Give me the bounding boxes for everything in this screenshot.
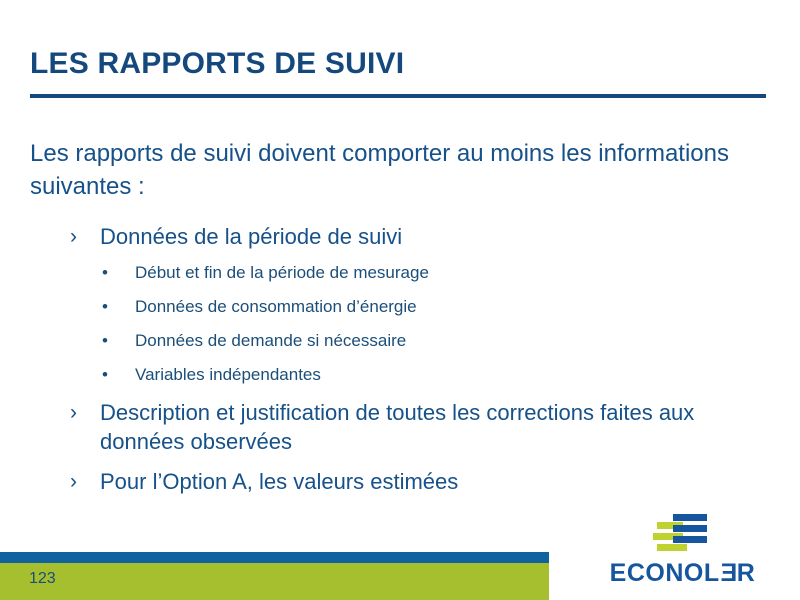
list-item-label: Variables indépendantes xyxy=(135,365,321,384)
footer-blue-band xyxy=(0,552,549,563)
list-item: • Données de consommation d’énergie xyxy=(30,295,750,318)
list-item: • Début et fin de la période de mesurage xyxy=(30,261,750,284)
intro-paragraph: Les rapports de suivi doivent comporter … xyxy=(30,137,730,203)
bullet-dot-icon: • xyxy=(102,329,108,352)
title-underline-rule xyxy=(30,94,766,98)
wordmark-part2: R xyxy=(737,559,756,587)
list-item: › Description et justification de toutes… xyxy=(30,398,750,456)
list-item-label: Données de consommation d’énergie xyxy=(135,297,417,316)
list-item: • Variables indépendantes xyxy=(30,363,750,386)
bullet-dot-icon: • xyxy=(102,295,108,318)
list-item-label: Début et fin de la période de mesurage xyxy=(135,263,429,282)
bullet-list: › Données de la période de suivi • Début… xyxy=(30,222,750,500)
chevron-right-icon: › xyxy=(70,222,77,251)
page-title: LES RAPPORTS DE SUIVI xyxy=(30,48,766,80)
footer-green-band xyxy=(0,563,549,600)
bullet-dot-icon: • xyxy=(102,261,108,284)
chevron-right-icon: › xyxy=(70,467,77,496)
wordmark-part1: ECONOL xyxy=(610,559,720,587)
slide-canvas: LES RAPPORTS DE SUIVI Les rapports de su… xyxy=(0,0,800,600)
chevron-right-icon: › xyxy=(70,398,77,427)
list-item-label: Données de demande si nécessaire xyxy=(135,331,406,350)
list-item-label: Pour l’Option A, les valeurs estimées xyxy=(100,469,458,494)
sublist: • Début et fin de la période de mesurage… xyxy=(30,261,750,386)
list-item-label: Description et justification de toutes l… xyxy=(100,400,694,454)
list-item: • Données de demande si nécessaire xyxy=(30,329,750,352)
title-block: LES RAPPORTS DE SUIVI xyxy=(30,48,766,98)
econoler-wordmark: ECONOLER xyxy=(600,559,765,587)
list-item: › Données de la période de suivi xyxy=(30,222,750,251)
list-spacer xyxy=(30,460,750,467)
bullet-dot-icon: • xyxy=(102,363,108,386)
list-item-label: Données de la période de suivi xyxy=(100,224,402,249)
econoler-logo-mark-icon xyxy=(653,514,713,554)
wordmark-flipped-e: E xyxy=(720,559,737,587)
econoler-logo: ECONOLER xyxy=(600,514,765,592)
list-item: › Pour l’Option A, les valeurs estimées xyxy=(30,467,750,496)
page-number: 123 xyxy=(29,569,56,589)
